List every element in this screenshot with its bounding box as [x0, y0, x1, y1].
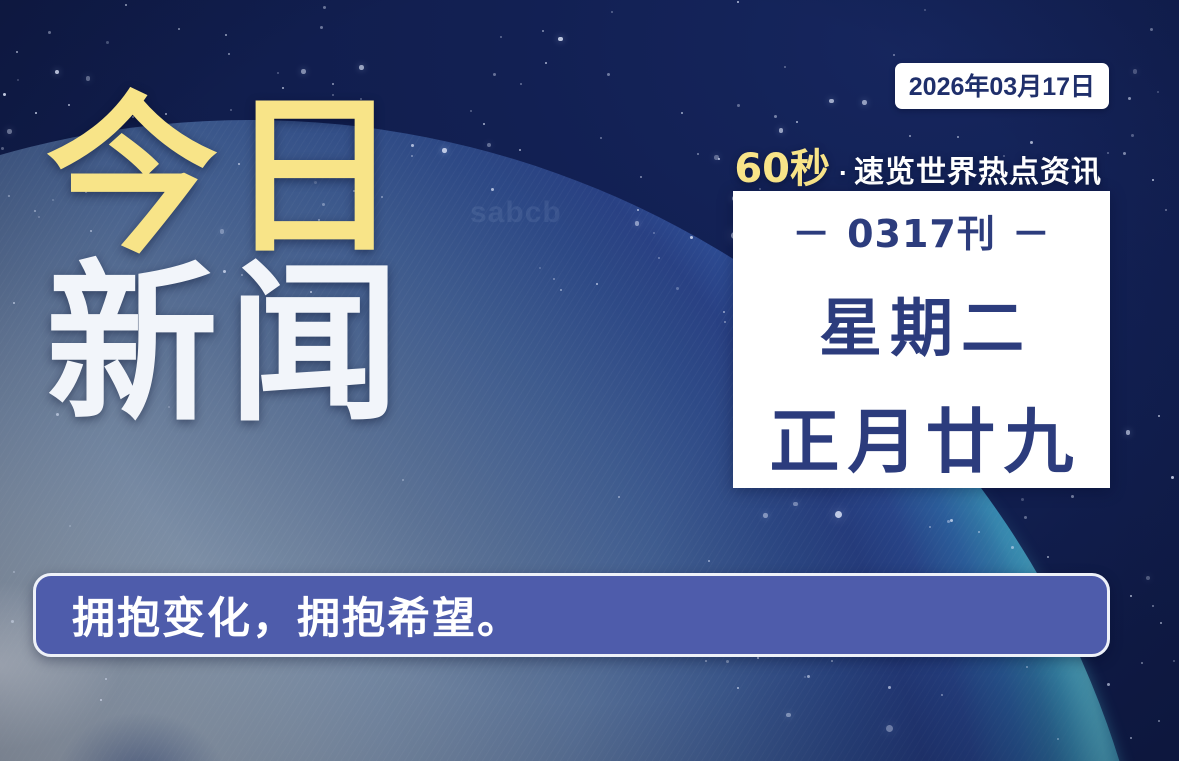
quote-banner: 拥抱变化，拥抱希望。: [33, 573, 1110, 657]
news-poster: sabcb 今日 新闻 2026年03月17日 60秒 · 速览世界热点资讯 －…: [0, 0, 1179, 761]
page-title-line-2: 新闻: [46, 264, 410, 426]
lunar-date-label: 正月廿九: [762, 386, 1082, 487]
subtitle-row: 60秒 · 速览世界热点资讯: [734, 136, 1102, 194]
subtitle-separator: ·: [839, 158, 848, 189]
issue-number: 0317刊: [847, 203, 996, 258]
subtitle-tagline: 速览世界热点资讯: [854, 147, 1102, 191]
page-title-line-1: 今日: [46, 96, 410, 258]
issue-row: － 0317刊 －: [792, 203, 1051, 258]
issue-dash-left: －: [792, 203, 831, 258]
date-badge: 2026年03月17日: [895, 63, 1109, 109]
info-card: － 0317刊 － 星期二 正月廿九: [733, 191, 1110, 488]
subtitle-seconds: 60秒: [734, 136, 830, 194]
issue-dash-right: －: [1012, 203, 1051, 258]
quote-text: 拥抱变化，拥抱希望。: [36, 584, 522, 646]
weekday-label: 星期二: [811, 278, 1032, 369]
page-title: 今日 新闻: [46, 96, 410, 425]
